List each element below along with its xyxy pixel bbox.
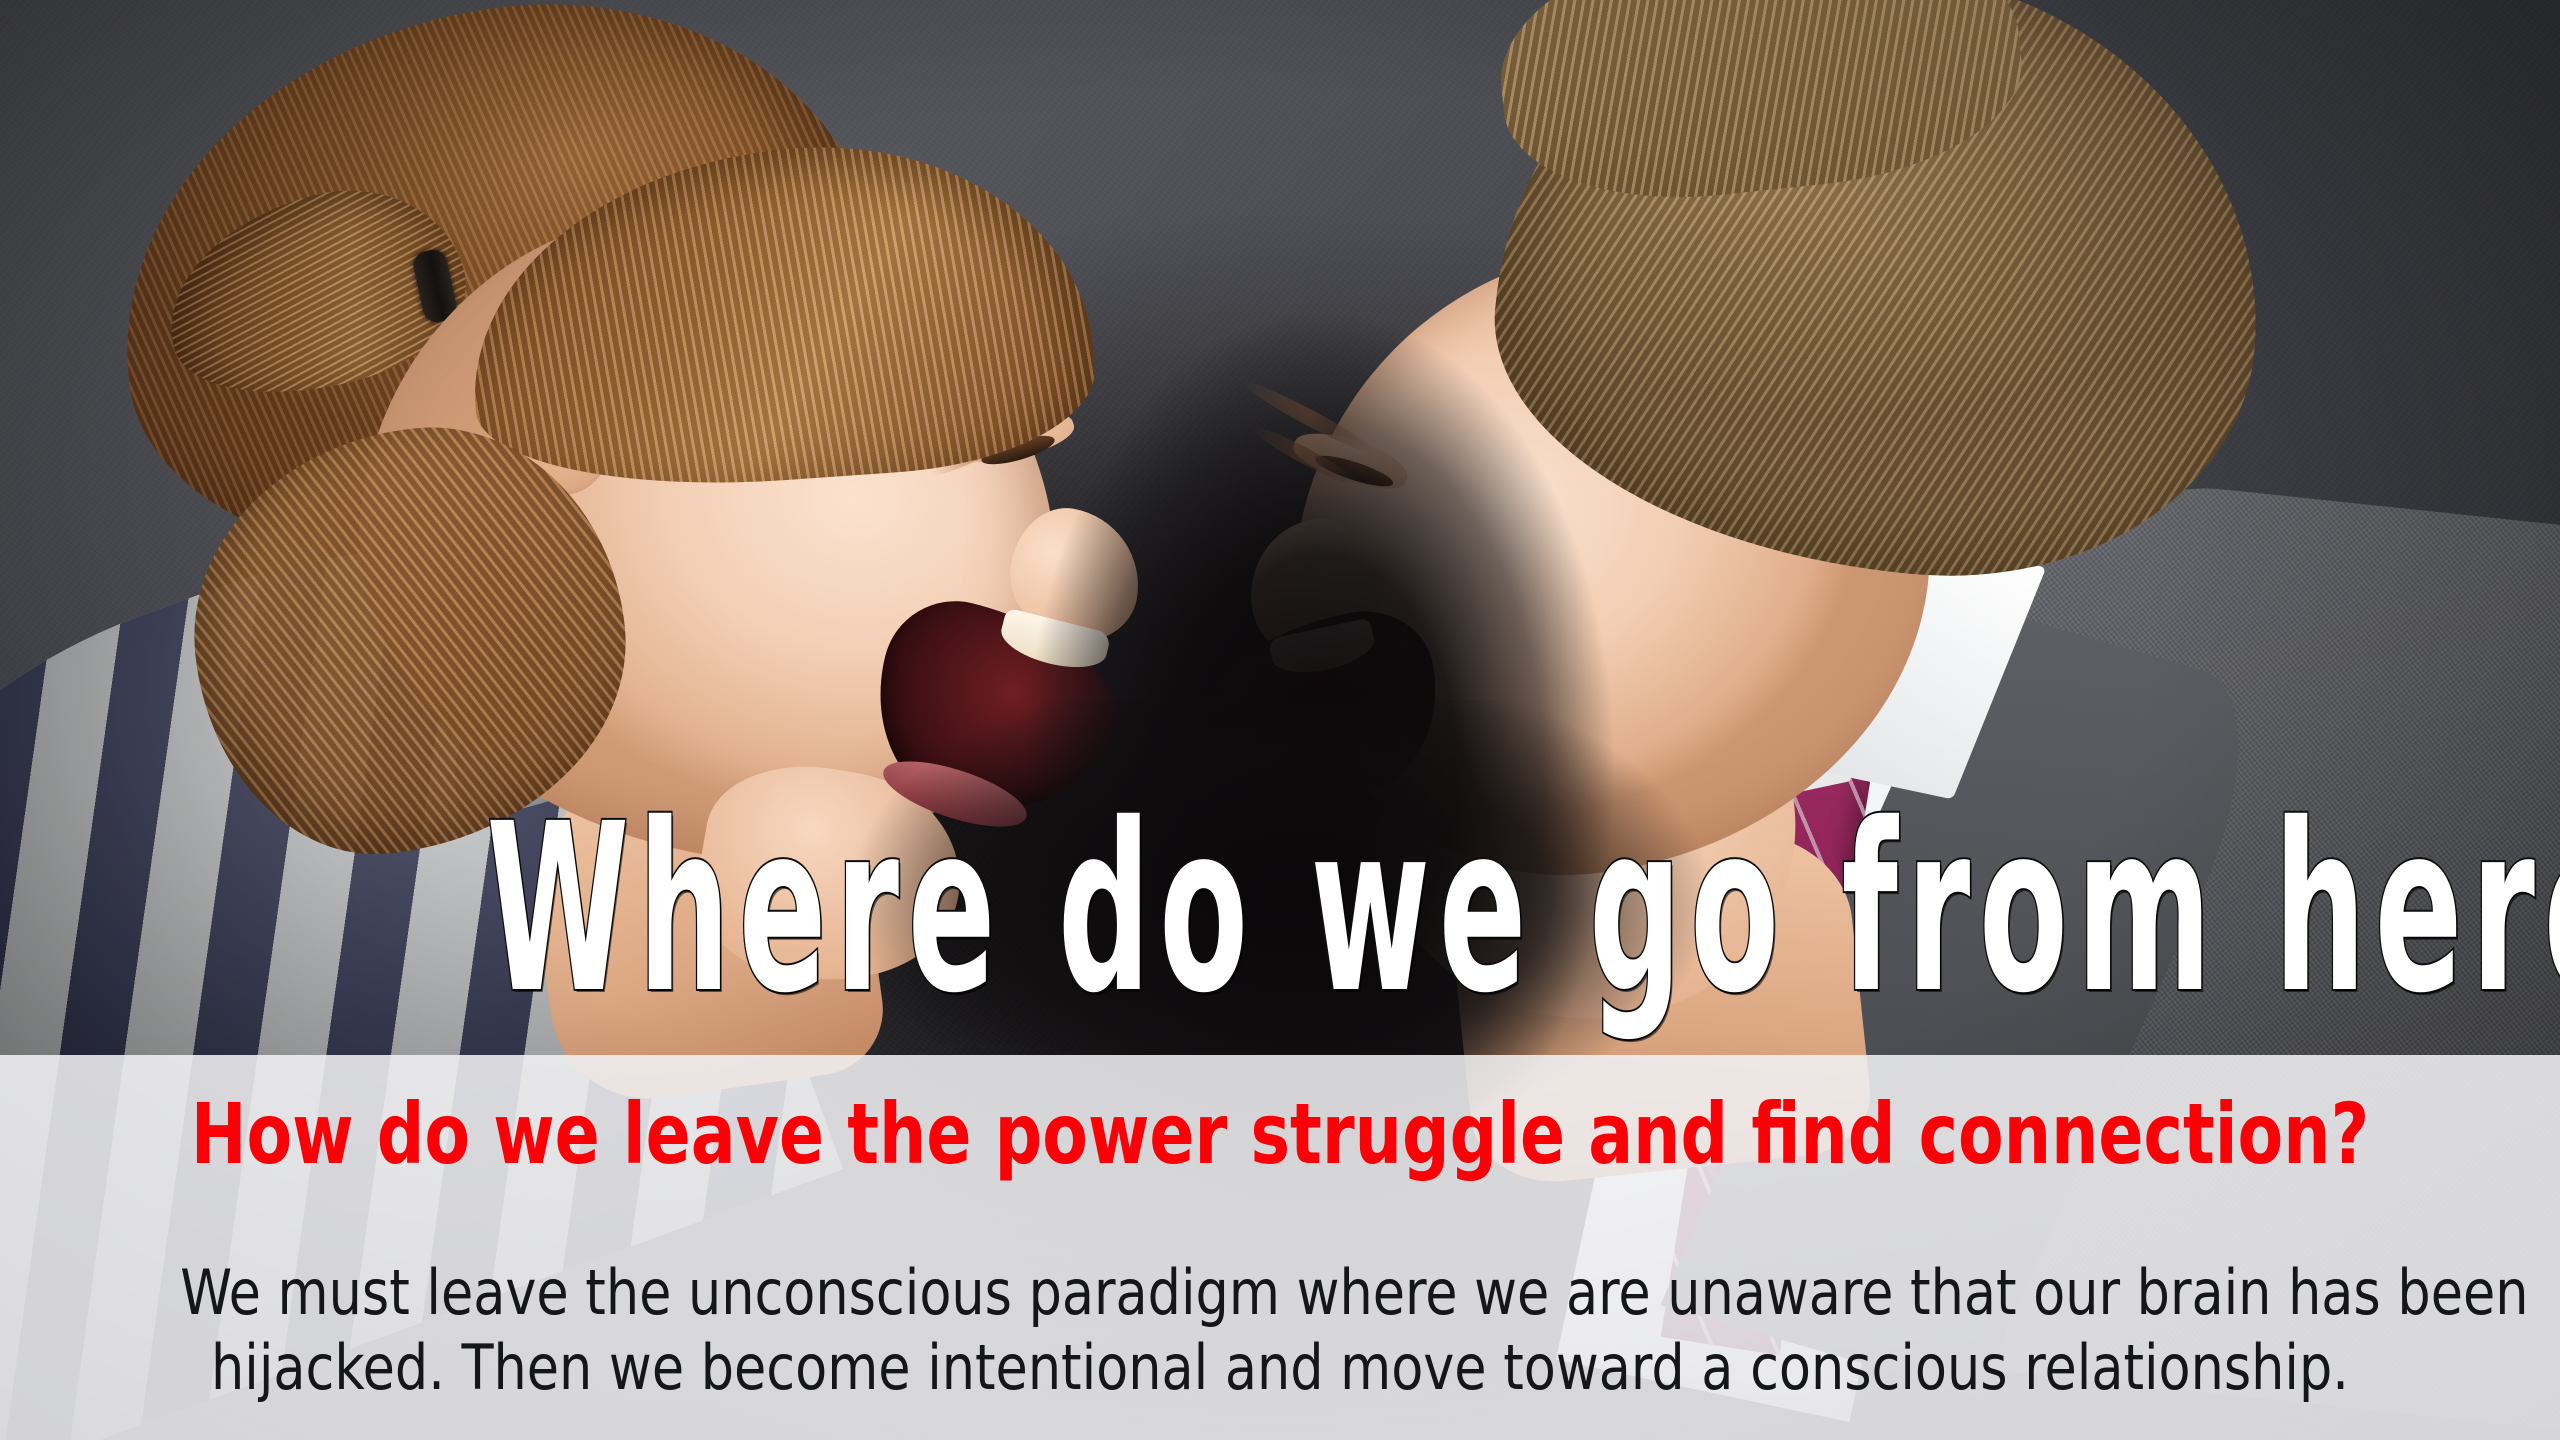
body-line-1: We must leave the unconscious paradigm w… [180,1255,2380,1330]
body-line-2: hijacked. Then we become intentional and… [180,1330,2380,1405]
page-title: Where do we go from here? [486,793,2073,1025]
subtitle-question: How do we leave the power struggle and f… [154,1088,2407,1180]
slide-root: Where do we go from here? How do we leav… [0,0,2560,1440]
body-paragraph: We must leave the unconscious paradigm w… [110,1255,2450,1405]
